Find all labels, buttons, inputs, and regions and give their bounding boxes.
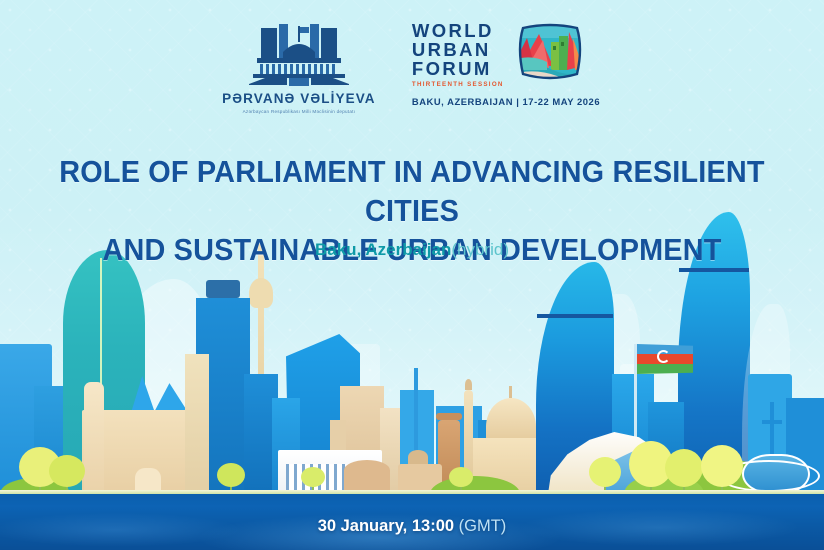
event-location: Baku, Azerbaijan(hybrid) [0,240,824,260]
wuf-place-dates: BAKU, AZERBAIJAN | 17-22 MAY 2026 [412,96,600,107]
logo-parvana-valiyeva: PƏRVANƏ VƏLİYEVA Azərbaycan Respublikası… [224,22,374,114]
tree [700,438,744,494]
tv-tower-bulb [249,278,273,308]
tree [664,444,704,494]
old-city-dome [408,450,428,464]
office-tower-crown [206,280,240,298]
wuf-cube-emblem [513,22,587,84]
title-line-1: ROLE OF PARLIAMENT IN ADVANCING RESILIEN… [59,154,764,228]
wuf-session-label: THIRTEENTH SESSION [412,82,504,88]
event-datetime: 30 January, 13:00 (GMT) [0,517,824,536]
mosque-dome-finial [509,386,512,398]
government-house-tower-left [84,382,104,494]
tree [588,454,622,494]
flame-tower-band [537,314,613,318]
antenna-tower-arm [762,420,782,424]
wuf-word-forum: FORUM [412,60,492,79]
logo-world-urban-forum: WORLD URBAN FORUM THIRTEENTH SESSION [412,22,600,107]
location-name: Baku, Azerbaijan [315,240,451,259]
old-city-building [344,460,390,494]
mosque-dome [486,398,536,438]
flag-crescent-star-icon [657,350,670,363]
office-tower-light [185,354,209,494]
deputy-role: Azərbaycan Respublikası Milli Məclisinin… [243,108,356,113]
logo-row: PƏRVANƏ VƏLİYEVA Azərbaycan Respublikası… [0,22,824,126]
datetime-timezone: (GMT) [459,517,507,535]
location-mode: (hybrid) [451,240,509,259]
parliament-building-icon [243,22,355,88]
datetime-value: 30 January, 13:00 [318,517,454,535]
tree [48,452,86,494]
mosque-minaret-tip [465,379,472,390]
deputy-name: PƏRVANƏ VƏLİYEVA [222,91,376,106]
event-banner: PƏRVANƏ VƏLİYEVA Azərbaycan Respublikası… [0,0,824,550]
wuf-word-urban: URBAN [412,41,491,60]
maiden-tower-cap [436,413,462,420]
